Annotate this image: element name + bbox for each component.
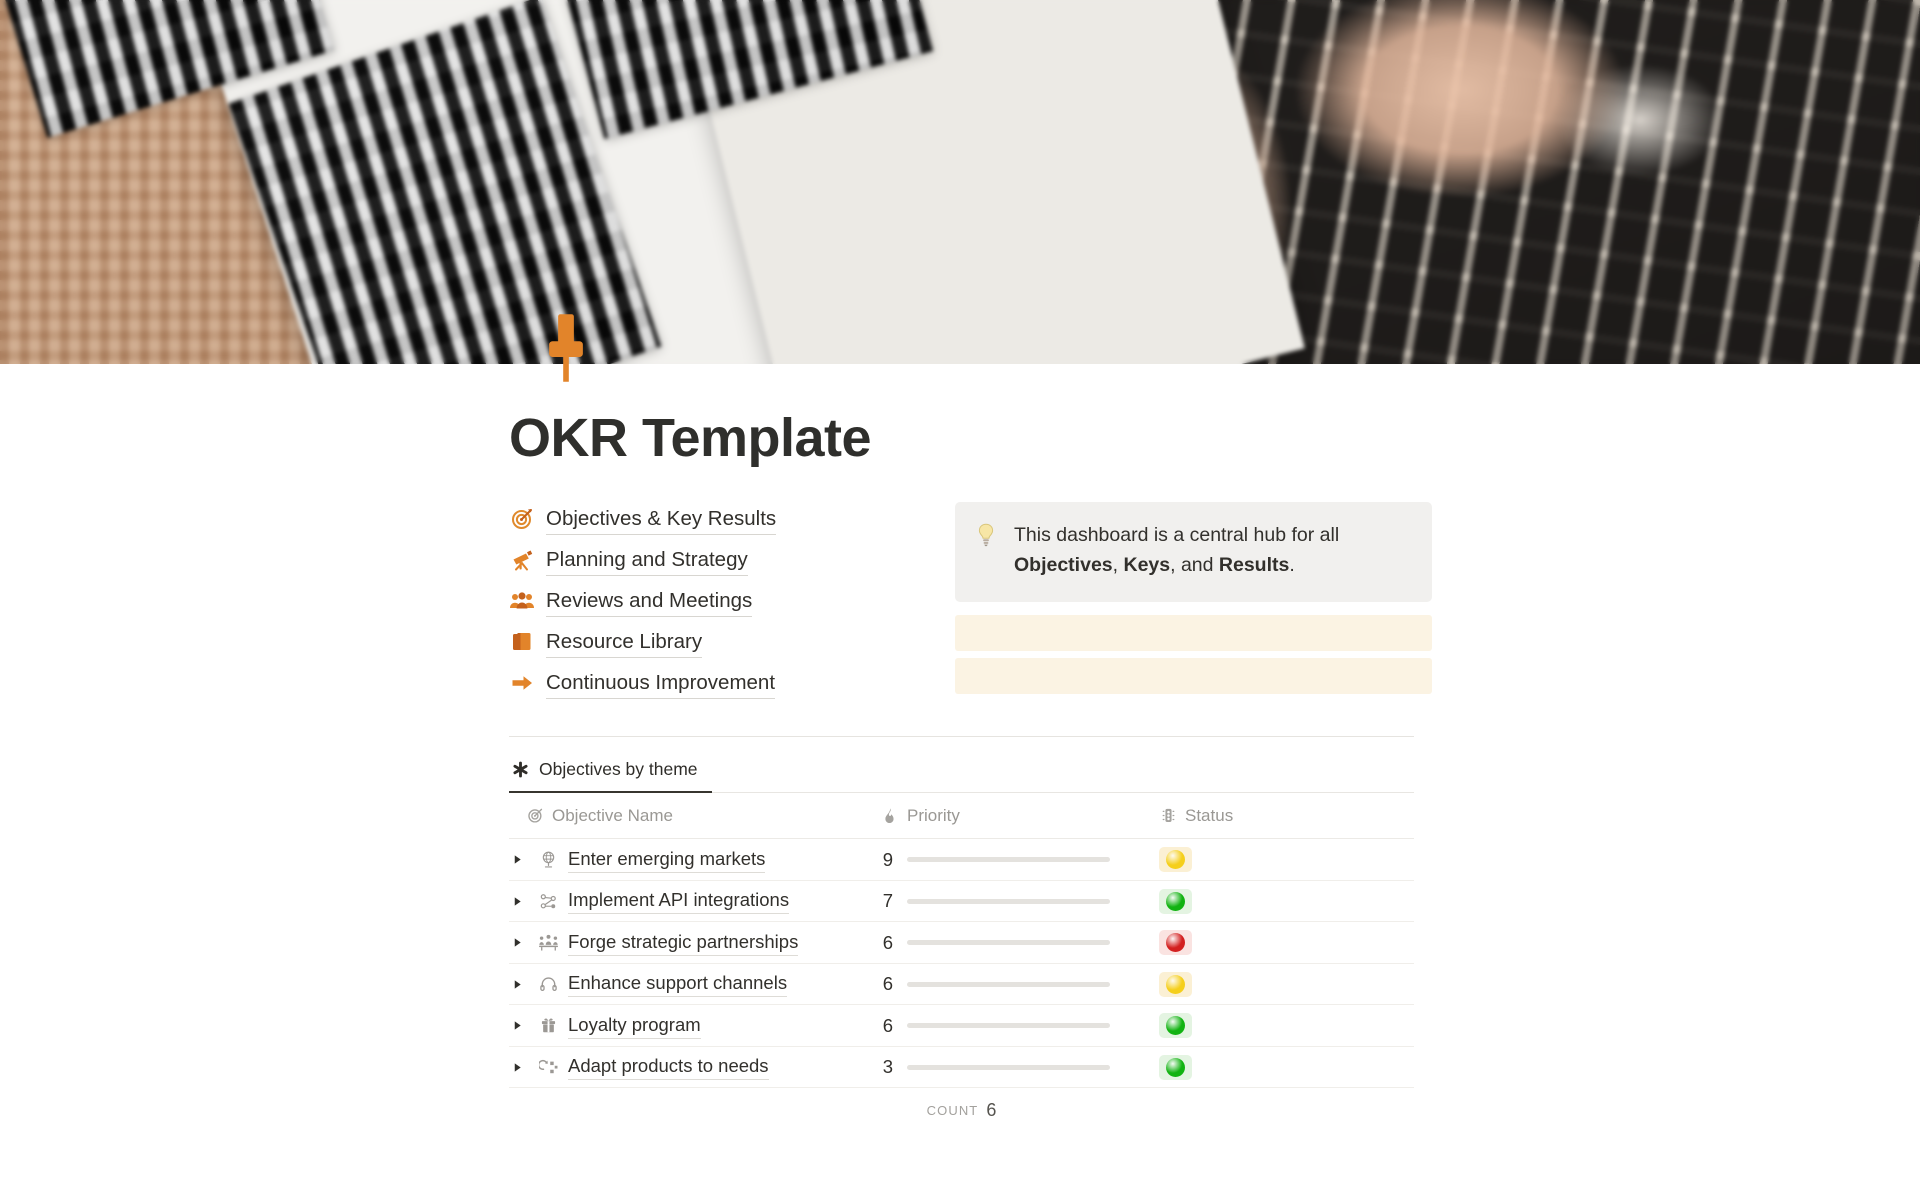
objective-name-link[interactable]: Implement API integrations: [568, 888, 789, 914]
cell-objective-name: Forge strategic partnerships: [509, 930, 881, 956]
network-icon: [535, 891, 562, 911]
asterisk-icon: [511, 760, 530, 779]
status-dot: [1166, 1058, 1185, 1077]
cell-objective-name: Enter emerging markets: [509, 847, 881, 873]
section-divider: [509, 736, 1414, 737]
callout-bold-objectives: Objectives: [1014, 554, 1113, 576]
objective-name-link[interactable]: Enter emerging markets: [568, 847, 765, 873]
globe-icon: [535, 850, 562, 870]
cell-status: [1159, 1055, 1397, 1080]
nav-item-label: Objectives & Key Results: [546, 504, 776, 536]
column-header-label: Status: [1185, 806, 1233, 826]
callout-sep-1: ,: [1113, 554, 1124, 576]
cell-objective-name: Enhance support channels: [509, 971, 881, 997]
cell-objective-name: Implement API integrations: [509, 888, 881, 914]
cell-objective-name: Loyalty program: [509, 1013, 881, 1039]
cell-status: [1159, 889, 1397, 914]
column-header-objective-name[interactable]: Objective Name: [509, 806, 881, 826]
telescope-icon: [509, 547, 535, 573]
objective-name-link[interactable]: Enhance support channels: [568, 971, 787, 997]
priority-value: 3: [881, 1056, 893, 1078]
priority-progress-bar: [907, 982, 1110, 987]
expand-toggle-icon[interactable]: [509, 854, 535, 865]
column-header-status[interactable]: Status: [1159, 806, 1397, 826]
swap-icon: [535, 1057, 562, 1077]
nav-item-reviews-and-meetings[interactable]: Reviews and Meetings: [509, 584, 929, 618]
column-header-priority[interactable]: Priority: [881, 806, 1159, 826]
cell-objective-name: Adapt products to needs: [509, 1054, 881, 1080]
column-header-label: Objective Name: [552, 806, 673, 826]
callout-bold-results: Results: [1219, 554, 1289, 576]
priority-value: 6: [881, 973, 893, 995]
priority-progress-bar: [907, 899, 1110, 904]
callout-sep-2: , and: [1170, 554, 1219, 576]
expand-toggle-icon[interactable]: [509, 1062, 535, 1073]
status-dot: [1166, 975, 1185, 994]
callout-text-before: This dashboard is a central hub for all: [1014, 524, 1339, 546]
expand-toggle-icon[interactable]: [509, 937, 535, 948]
nav-item-continuous-improvement[interactable]: Continuous Improvement: [509, 666, 929, 700]
pushpin-icon[interactable]: [530, 312, 602, 384]
priority-progress-bar: [907, 1065, 1110, 1070]
table-row[interactable]: Implement API integrations 7: [509, 881, 1414, 923]
body-columns: Objectives & Key Results Planning and St…: [509, 502, 1414, 700]
page-title: OKR Template: [509, 408, 1414, 468]
target-icon: [509, 506, 535, 532]
page-cover: [0, 0, 1920, 364]
nav-item-resource-library[interactable]: Resource Library: [509, 625, 929, 659]
cell-status: [1159, 847, 1397, 872]
database-tabs: Objectives by theme: [509, 759, 1414, 793]
table-row[interactable]: Enhance support channels 6: [509, 964, 1414, 1006]
arrow-right-icon: [509, 670, 535, 696]
status-badge[interactable]: [1159, 1013, 1192, 1038]
yellow-block-2[interactable]: [955, 658, 1432, 694]
expand-toggle-icon[interactable]: [509, 979, 535, 990]
status-badge[interactable]: [1159, 930, 1192, 955]
gift-icon: [535, 1016, 562, 1036]
table-row[interactable]: Forge strategic partnerships 6: [509, 922, 1414, 964]
objectives-database: Objectives by theme Objective Name: [509, 759, 1414, 1132]
table-footer-count[interactable]: Count 6: [509, 1088, 1414, 1132]
count-label: Count: [927, 1103, 979, 1118]
traffic-light-icon: [1159, 807, 1177, 825]
priority-progress-bar: [907, 1023, 1110, 1028]
target-icon: [526, 807, 544, 825]
status-dot: [1166, 850, 1185, 869]
callout-column: This dashboard is a central hub for all …: [955, 502, 1432, 700]
status-dot: [1166, 933, 1185, 952]
priority-value: 6: [881, 932, 893, 954]
objective-name-link[interactable]: Loyalty program: [568, 1013, 701, 1039]
cover-blur-overlay: [0, 0, 1920, 364]
callout-bold-keys: Keys: [1123, 554, 1170, 576]
yellow-block-1[interactable]: [955, 615, 1432, 651]
fire-icon: [881, 807, 899, 825]
table-row[interactable]: Adapt products to needs 3: [509, 1047, 1414, 1089]
table-header-row: Objective Name Priority: [509, 793, 1414, 839]
callout-text-after: .: [1289, 554, 1294, 576]
cell-priority: 9: [881, 849, 1159, 871]
status-dot: [1166, 1016, 1185, 1035]
objective-name-link[interactable]: Forge strategic partnerships: [568, 930, 798, 956]
headset-icon: [535, 974, 562, 994]
priority-value: 9: [881, 849, 893, 871]
objective-name-link[interactable]: Adapt products to needs: [568, 1054, 769, 1080]
page-content: OKR Template: [0, 408, 1920, 1132]
nav-item-label: Reviews and Meetings: [546, 586, 752, 618]
books-icon: [509, 629, 535, 655]
cell-priority: 6: [881, 932, 1159, 954]
table-row[interactable]: Enter emerging markets 9: [509, 839, 1414, 881]
count-value: 6: [986, 1100, 996, 1121]
priority-value: 7: [881, 890, 893, 912]
expand-toggle-icon[interactable]: [509, 896, 535, 907]
nav-item-label: Resource Library: [546, 627, 702, 659]
cell-status: [1159, 972, 1397, 997]
status-badge[interactable]: [1159, 1055, 1192, 1080]
status-badge[interactable]: [1159, 889, 1192, 914]
priority-progress-bar: [907, 940, 1110, 945]
status-badge[interactable]: [1159, 847, 1192, 872]
cell-priority: 3: [881, 1056, 1159, 1078]
column-header-label: Priority: [907, 806, 960, 826]
priority-progress-bar: [907, 857, 1110, 862]
navigation-links: Objectives & Key Results Planning and St…: [509, 502, 929, 700]
tab-objectives-by-theme[interactable]: Objectives by theme: [509, 759, 712, 793]
status-badge[interactable]: [1159, 972, 1192, 997]
nav-item-objectives-key-results[interactable]: Objectives & Key Results: [509, 502, 929, 536]
team-table-icon: [535, 933, 562, 953]
info-callout: This dashboard is a central hub for all …: [955, 502, 1432, 601]
callout-text: This dashboard is a central hub for all …: [1014, 521, 1410, 580]
cell-status: [1159, 930, 1397, 955]
nav-item-label: Planning and Strategy: [546, 545, 748, 577]
table-row[interactable]: Loyalty program 6: [509, 1005, 1414, 1047]
priority-value: 6: [881, 1015, 893, 1037]
nav-item-planning-and-strategy[interactable]: Planning and Strategy: [509, 543, 929, 577]
cell-priority: 7: [881, 890, 1159, 912]
cell-status: [1159, 1013, 1397, 1038]
tab-label: Objectives by theme: [539, 759, 698, 780]
cell-priority: 6: [881, 973, 1159, 995]
cell-priority: 6: [881, 1015, 1159, 1037]
people-icon: [509, 588, 535, 614]
status-dot: [1166, 892, 1185, 911]
expand-toggle-icon[interactable]: [509, 1020, 535, 1031]
lightbulb-icon: [974, 522, 998, 548]
nav-item-label: Continuous Improvement: [546, 668, 775, 700]
